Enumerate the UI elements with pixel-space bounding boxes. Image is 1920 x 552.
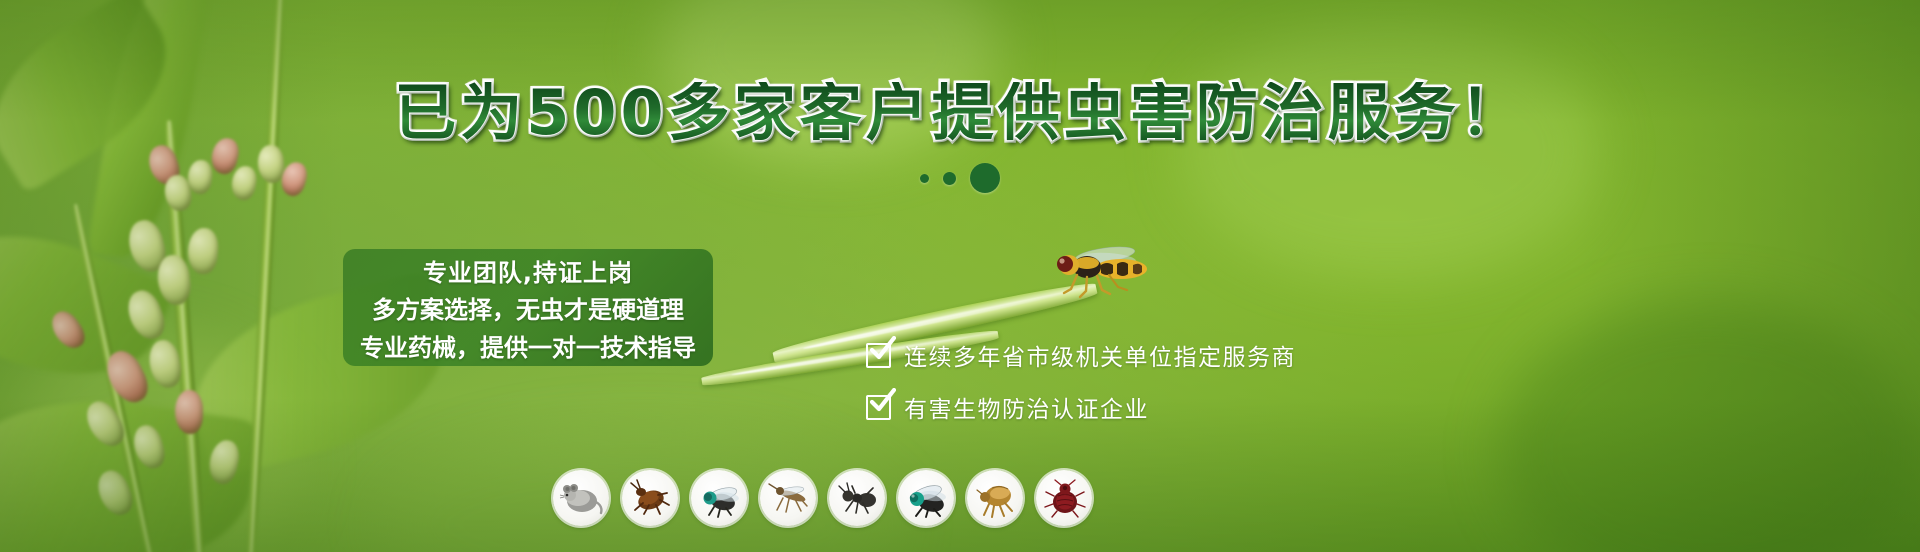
checklist-item: 有害生物防治认证企业 <box>866 390 1296 424</box>
selling-point-line-1: 专业团队,持证上岗 <box>343 255 713 291</box>
selling-point-line-2: 多方案选择，无虫才是硬道理 <box>343 291 713 329</box>
cockroach-icon[interactable] <box>622 470 678 526</box>
flea-icon[interactable] <box>967 470 1023 526</box>
page-title: 已为500多家客户提供虫害防治服务！ <box>0 82 1920 144</box>
checklist-item: 连续多年省市级机关单位指定服务商 <box>866 338 1296 372</box>
checklist-item-label: 连续多年省市级机关单位指定服务商 <box>904 338 1296 372</box>
bedbug-icon[interactable] <box>1036 470 1092 526</box>
promo-banner: 已为500多家客户提供虫害防治服务！ 已为500多家客户提供虫害防治服务！ 专业… <box>0 0 1920 552</box>
checkbox-checked-icon <box>866 343 891 368</box>
ant-icon[interactable] <box>829 470 885 526</box>
housefly-icon[interactable] <box>691 470 747 526</box>
selling-points-panel: 专业团队,持证上岗 多方案选择，无虫才是硬道理 专业药械，提供一对一技术指导 <box>343 249 713 366</box>
decor-dot-large-icon <box>970 163 1000 193</box>
checklist-item-label: 有害生物防治认证企业 <box>904 390 1149 424</box>
checkbox-checked-icon <box>866 395 891 420</box>
pest-types-row <box>553 470 1092 526</box>
mosquito-icon[interactable] <box>760 470 816 526</box>
decorative-dots <box>0 163 1920 193</box>
rodent-icon[interactable] <box>553 470 609 526</box>
decor-dot-medium-icon <box>943 172 956 185</box>
blowfly-icon[interactable] <box>898 470 954 526</box>
selling-point-line-3: 专业药械，提供一对一技术指导 <box>343 329 713 367</box>
decor-dot-small-icon <box>920 174 929 183</box>
credentials-checklist: 连续多年省市级机关单位指定服务商 有害生物防治认证企业 <box>866 338 1296 442</box>
